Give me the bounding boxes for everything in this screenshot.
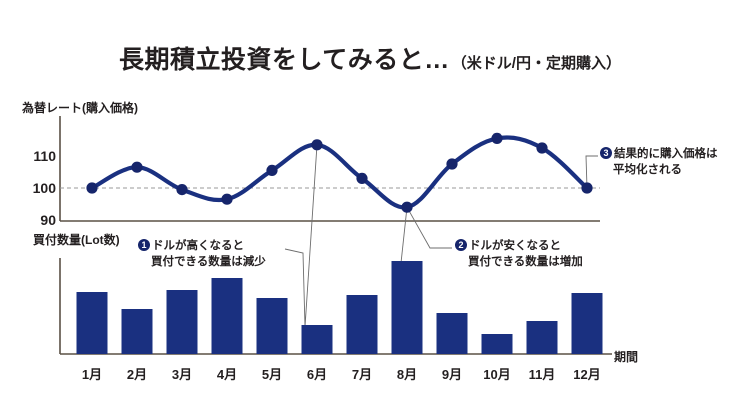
bar-2月 <box>122 309 153 354</box>
price-marker-3月 <box>176 184 187 195</box>
price-marker-2月 <box>131 162 142 173</box>
price-marker-5月 <box>266 165 277 176</box>
bar-8月 <box>392 261 423 354</box>
chart-graphics <box>0 0 740 411</box>
price-marker-11月 <box>536 142 547 153</box>
annotation-2-leader-line <box>401 207 407 263</box>
bar-5月 <box>257 298 288 354</box>
bar-4月 <box>212 278 243 354</box>
bar-10月 <box>482 334 513 354</box>
price-marker-8月 <box>401 202 412 213</box>
price-line-series <box>92 138 587 208</box>
price-marker-1月 <box>86 182 97 193</box>
price-marker-7月 <box>356 173 367 184</box>
price-marker-4月 <box>221 194 232 205</box>
bar-1月 <box>77 292 108 354</box>
bar-11月 <box>527 321 558 354</box>
price-marker-6月 <box>311 139 322 150</box>
chart-canvas: 長期積立投資をしてみると…（米ドル/円・定期購入） 為替レート(購入価格) 買付… <box>0 0 740 411</box>
price-marker-9月 <box>446 158 457 169</box>
bar-9月 <box>437 313 468 354</box>
bar-7月 <box>347 295 378 354</box>
price-markers <box>86 133 592 213</box>
annotation-2-leader-line-b <box>407 207 452 248</box>
bar-6月 <box>302 325 333 354</box>
annotation-1-leader-line <box>285 145 317 327</box>
price-marker-12月 <box>581 182 592 193</box>
bar-3月 <box>167 290 198 354</box>
price-marker-10月 <box>491 133 502 144</box>
bar-12月 <box>572 293 603 354</box>
bar-series <box>77 261 603 354</box>
